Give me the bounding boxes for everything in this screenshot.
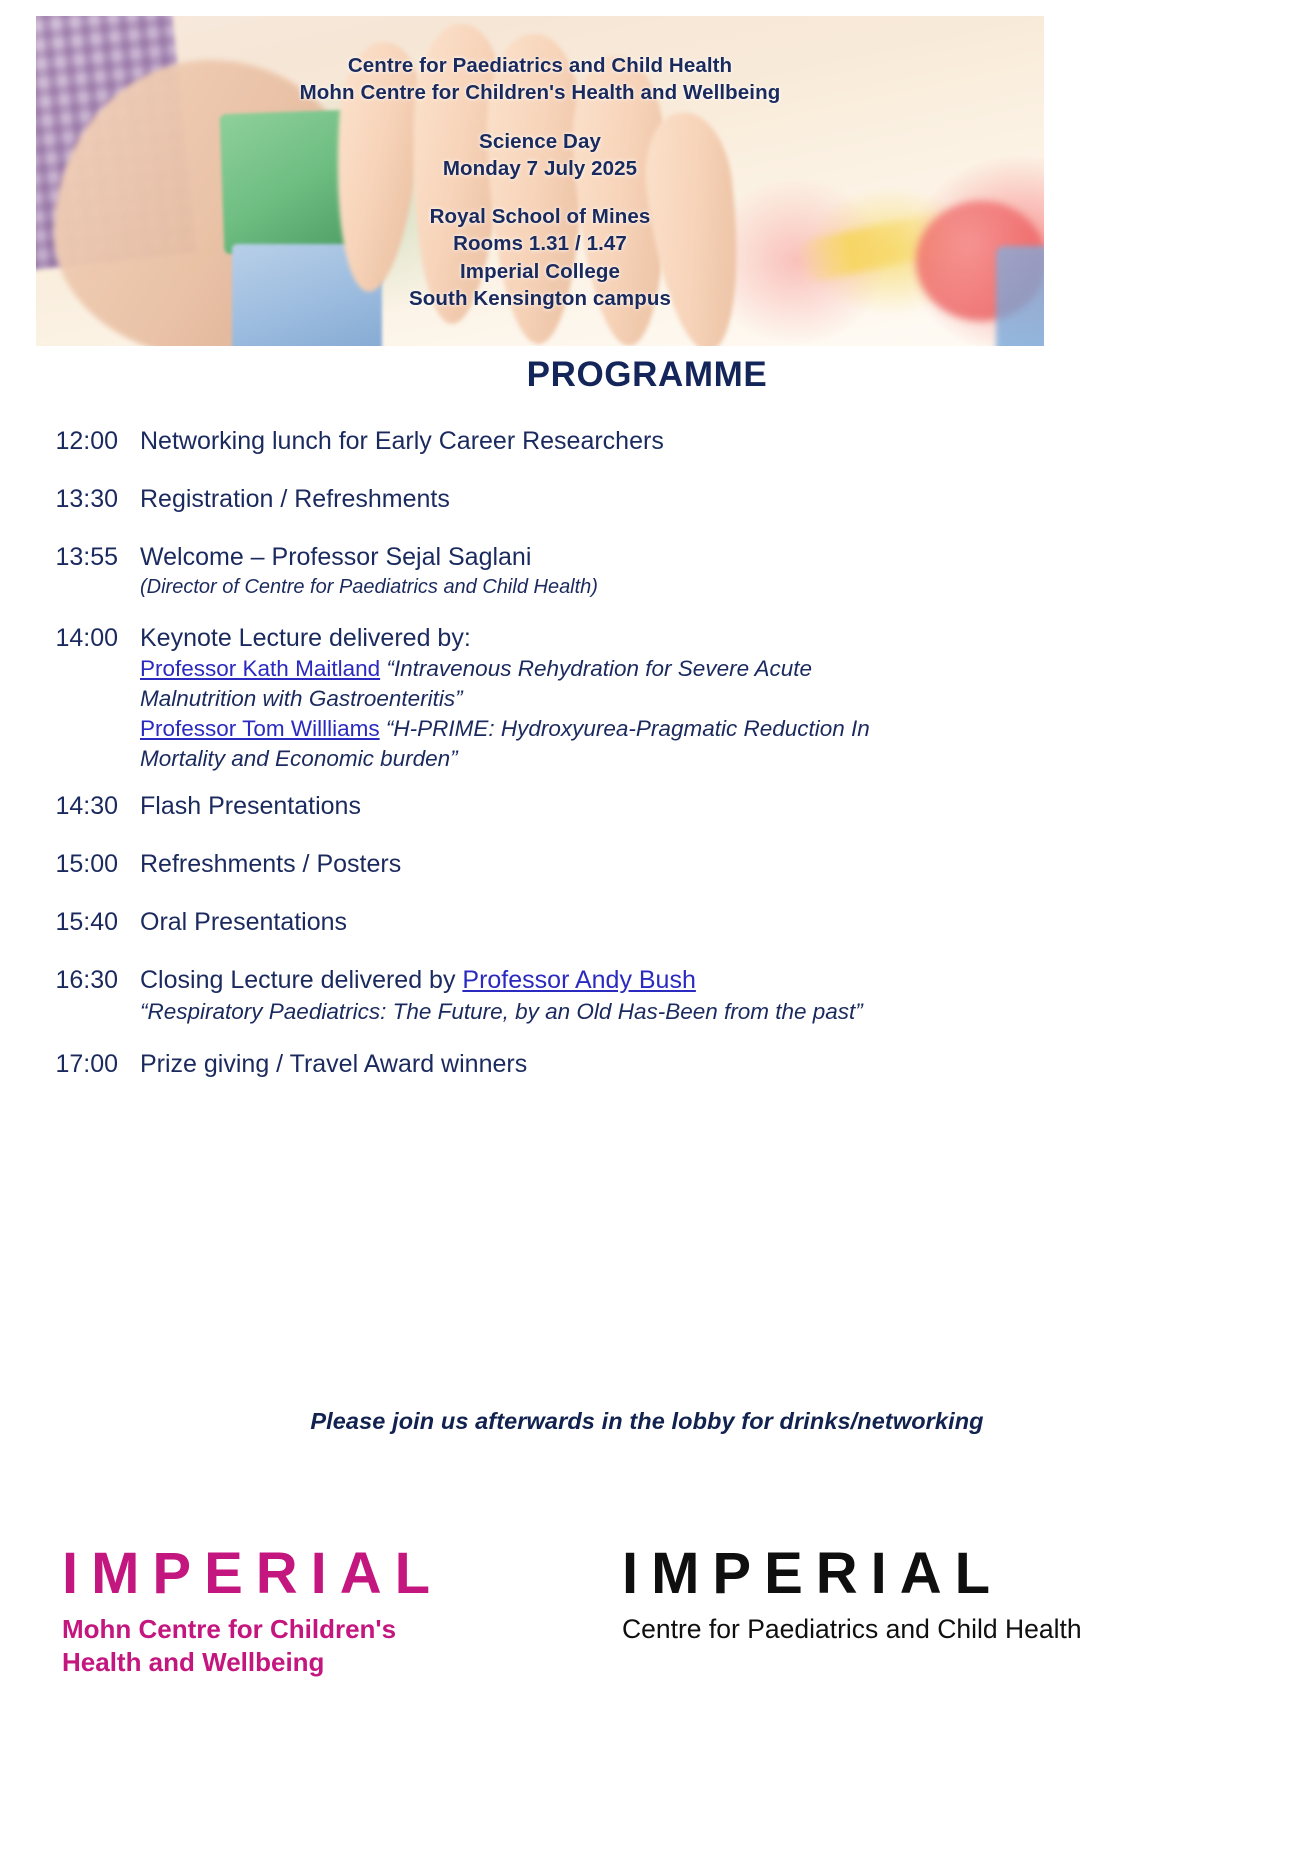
logo-mohn-centre: IMPERIAL Mohn Centre for Children's Heal…	[62, 1545, 622, 1679]
schedule-row-closing: 16:30 Closing Lecture delivered by Profe…	[0, 964, 1294, 1026]
schedule-description: Prize giving / Travel Award winners	[140, 1048, 870, 1080]
logo-subtitle-mohn-line2: Health and Wellbeing	[62, 1647, 324, 1677]
schedule-row: 14:30 Flash Presentations	[0, 790, 1294, 822]
schedule-title: Refreshments / Posters	[140, 850, 401, 878]
schedule-time: 15:40	[0, 906, 140, 938]
schedule-description: Registration / Refreshments	[140, 483, 870, 515]
banner-spacer-2	[36, 182, 1044, 203]
schedule-description: Flash Presentations	[140, 790, 870, 822]
schedule-title: Networking lunch for Early Career Resear…	[140, 427, 664, 455]
schedule-time: 14:30	[0, 790, 140, 822]
speaker-link-kath-maitland[interactable]: Professor Kath Maitland	[140, 656, 380, 681]
schedule-time: 13:30	[0, 483, 140, 515]
speaker-link-andy-bush[interactable]: Professor Andy Bush	[462, 966, 695, 994]
logo-wordmark-imperial-black: IMPERIAL	[622, 1545, 1262, 1603]
banner-line-mohn: Mohn Centre for Children's Health and We…	[300, 81, 781, 104]
schedule-time: 12:00	[0, 425, 140, 457]
banner-line-rooms: Rooms 1.31 / 1.47	[453, 232, 627, 255]
schedule-row: 12:00 Networking lunch for Early Career …	[0, 425, 1294, 457]
schedule-description: Oral Presentations	[140, 906, 870, 938]
banner-line-campus: South Kensington campus	[409, 287, 671, 310]
banner-heading-text: Centre for Paediatrics and Child Health …	[36, 52, 1044, 312]
schedule-description: Refreshments / Posters	[140, 848, 870, 880]
schedule-description: Welcome – Professor Sejal Saglani (Direc…	[140, 541, 870, 600]
banner-line-date: Monday 7 July 2025	[443, 157, 637, 180]
schedule-title: Welcome – Professor Sejal Saglani	[140, 543, 531, 571]
logo-centre-paediatrics: IMPERIAL Centre for Paediatrics and Chil…	[622, 1545, 1262, 1679]
keynote-speaker-1: Professor Kath Maitland “Intravenous Reh…	[140, 654, 870, 714]
schedule-row: 15:00 Refreshments / Posters	[0, 848, 1294, 880]
closing-lecture-talk: “Respiratory Paediatrics: The Future, by…	[140, 997, 870, 1026]
logo-subtitle-mohn-line1: Mohn Centre for Children's	[62, 1614, 396, 1644]
schedule-title: Keynote Lecture delivered by:	[140, 624, 471, 652]
banner-line-college: Imperial College	[460, 260, 620, 283]
logo-subtitle-mohn: Mohn Centre for Children's Health and We…	[62, 1613, 622, 1679]
closing-lecture-prefix: Closing Lecture delivered by	[140, 966, 462, 994]
logo-wordmark-imperial-pink: IMPERIAL	[62, 1545, 622, 1603]
keynote-speaker-2: Professor Tom Willliams “H-PRIME: Hydrox…	[140, 714, 870, 774]
banner-line-venue: Royal School of Mines	[430, 205, 651, 228]
schedule-description: Networking lunch for Early Career Resear…	[140, 425, 870, 457]
schedule-description: Keynote Lecture delivered by: Professor …	[140, 622, 870, 774]
banner-line-event: Science Day	[479, 130, 601, 153]
schedule-row-keynote: 14:00 Keynote Lecture delivered by: Prof…	[0, 622, 1294, 774]
speaker-link-tom-willliams[interactable]: Professor Tom Willliams	[140, 716, 380, 741]
schedule-row: 13:30 Registration / Refreshments	[0, 483, 1294, 515]
schedule-title: Oral Presentations	[140, 908, 347, 936]
banner-line-centre: Centre for Paediatrics and Child Health	[348, 54, 732, 77]
banner-spacer-1	[36, 107, 1044, 128]
schedule-row: 15:40 Oral Presentations	[0, 906, 1294, 938]
schedule-title: Flash Presentations	[140, 792, 361, 820]
schedule-title: Prize giving / Travel Award winners	[140, 1050, 527, 1078]
schedule-time: 15:00	[0, 848, 140, 880]
schedule-description: Closing Lecture delivered by Professor A…	[140, 964, 870, 1026]
schedule-list: 12:00 Networking lunch for Early Career …	[0, 425, 1294, 1106]
schedule-time: 14:00	[0, 622, 140, 654]
schedule-time: 13:55	[0, 541, 140, 573]
schedule-title: Registration / Refreshments	[140, 485, 450, 513]
header-banner: Centre for Paediatrics and Child Health …	[36, 16, 1044, 346]
closing-note: Please join us afterwards in the lobby f…	[0, 1408, 1294, 1435]
schedule-time: 17:00	[0, 1048, 140, 1080]
page-title: PROGRAMME	[0, 355, 1294, 395]
footer-logos: IMPERIAL Mohn Centre for Children's Heal…	[0, 1545, 1294, 1679]
schedule-subtitle: (Director of Centre for Paediatrics and …	[140, 574, 870, 600]
schedule-row: 13:55 Welcome – Professor Sejal Saglani …	[0, 541, 1294, 600]
logo-subtitle-cpch: Centre for Paediatrics and Child Health	[622, 1613, 1262, 1646]
schedule-row: 17:00 Prize giving / Travel Award winner…	[0, 1048, 1294, 1080]
schedule-time: 16:30	[0, 964, 140, 996]
